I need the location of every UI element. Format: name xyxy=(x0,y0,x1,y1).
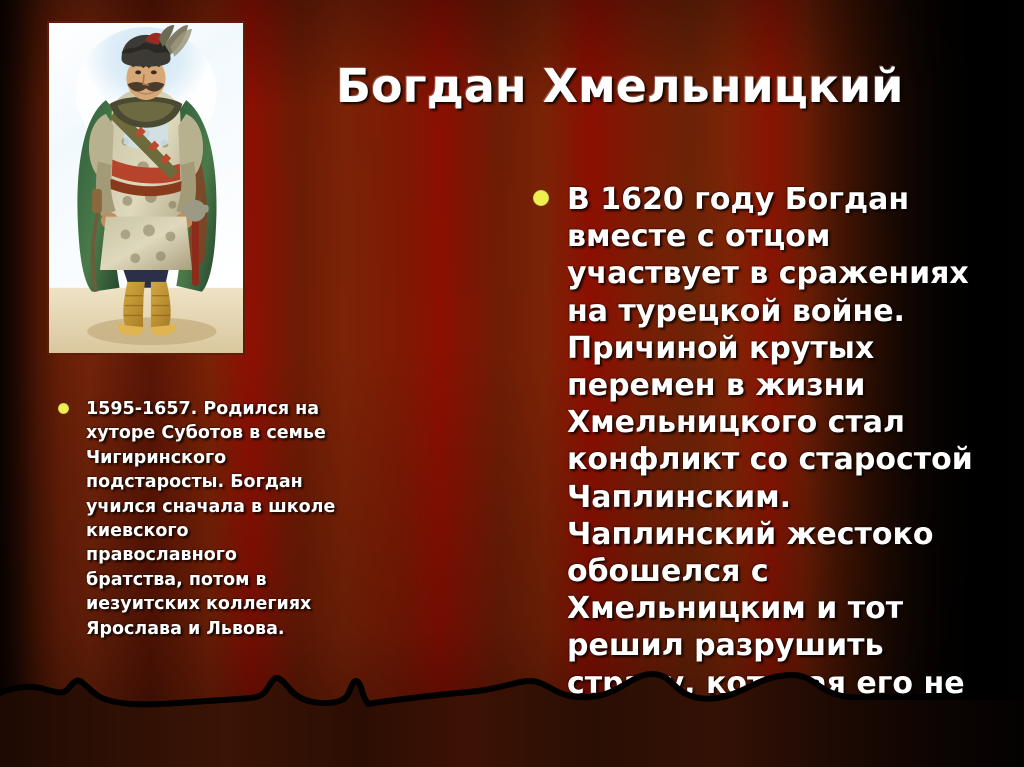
bullet-dot-icon xyxy=(533,190,549,206)
bullet-item-right: В 1620 году Богдан вместе с отцом участв… xyxy=(533,181,1003,739)
bottom-wave-border xyxy=(0,657,1024,767)
bullet-text-left: 1595-1657. Родился на хуторе Суботов в с… xyxy=(86,397,338,641)
slide-title: Богдан Хмельницкий xyxy=(336,62,996,110)
bullet-item-left: 1595-1657. Родился на хуторе Суботов в с… xyxy=(58,397,358,641)
bullet-text-right: В 1620 году Богдан вместе с отцом участв… xyxy=(567,181,977,739)
presentation-slide: Богдан Хмельницкий В 1620 году Богдан вм… xyxy=(0,0,1024,767)
portrait-image xyxy=(47,21,245,355)
portrait-illustration xyxy=(49,23,243,353)
bullet-dot-icon xyxy=(58,403,69,414)
